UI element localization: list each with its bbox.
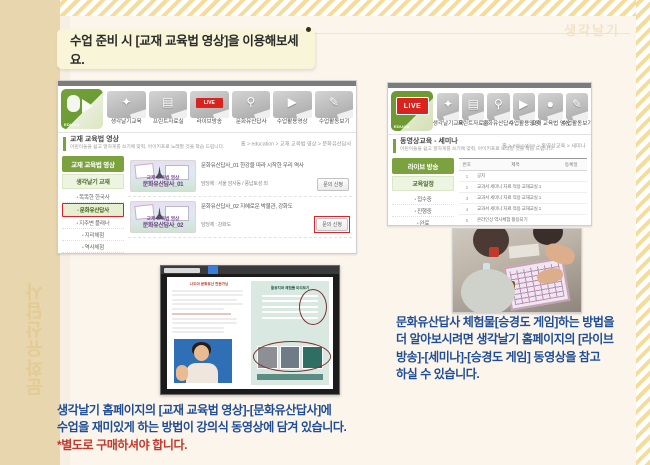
live-badge-icon: LIVE [396, 97, 429, 115]
sidebar-item-mini[interactable]: •미니수업 [62, 253, 124, 254]
row-no: 5 [459, 215, 476, 226]
bullet-icon: • [76, 195, 78, 201]
gnb-icon-list[interactable]: ✦ 생각날기교육 ▤ 프린트자료실 ⚲ 문화유산답사 ▶ 수업활용영상 ● [437, 91, 588, 126]
sidebar-item-label: 똑똑한 한국사 [79, 195, 110, 201]
bullet-icon: • [82, 245, 84, 251]
annotation-circle [299, 289, 327, 325]
video-icon: ▶ [513, 93, 535, 120]
right-stripe-pattern [636, 0, 650, 465]
slide-text-line [172, 290, 243, 292]
sidebar-subheading[interactable]: 생각날기 교재 [62, 174, 124, 189]
sidebar-subheading[interactable]: 교육일정 [392, 176, 454, 191]
slide-right-note [257, 374, 323, 380]
row-date [556, 171, 587, 182]
row-no: 2 [459, 182, 476, 193]
slide-text-line [172, 294, 243, 296]
list-item-title[interactable]: 문화유산답사_02 지혜로운 박물관, 강화도 [201, 202, 309, 210]
site-logo-live[interactable]: LIVE EDUCA [391, 91, 433, 131]
leaf-icon: ✦ [437, 93, 459, 120]
sidebar-item-label: 문화유산답사 [80, 208, 109, 214]
speech-bubble-pointer [306, 27, 311, 32]
bullet-icon: • [82, 233, 84, 239]
title-accent-bar [393, 139, 396, 153]
leaf-icon: ✦ [107, 91, 146, 118]
photo-red-box [489, 247, 499, 257]
logo-caption: EDUCA [394, 124, 410, 129]
annotation-circle [253, 341, 331, 372]
browser-tab[interactable] [164, 268, 200, 273]
browser-button[interactable] [208, 266, 218, 274]
tip-speech-bubble-text: 수업 준비 시 [교재 교육법 영상]을 이용해보세요. [70, 30, 302, 68]
bullet-icon: • [417, 221, 419, 227]
gnb-item-4[interactable]: ▶ 수업활용영상 [273, 91, 312, 124]
sidebar-item-ongoing[interactable]: •진행중 [392, 205, 454, 217]
caption-left-line1: 생각날기 홈페이지의 [교재 교육법 영상]-[문화유산답사]에 [57, 402, 407, 419]
presenter-hand [176, 365, 188, 381]
sidebar-item-label: 지리체험 [85, 233, 104, 239]
row-date [556, 215, 587, 226]
caption-right-line1: 문화유산답사 체험물[승경도 게임]하는 방법을 [396, 314, 636, 331]
site-global-nav[interactable]: LIVE EDUCA ✦ 생각날기교육 ▤ 프린트자료실 ⚲ 문화유산답사 ▶ [388, 88, 591, 131]
content-table: 번호 제목 등록일 1공지 2교과서 세미나 자료 적용 교재교실 1 3교과서… [458, 158, 587, 226]
side-vertical-label: 문화유산답사 [22, 282, 62, 432]
sidebar-item-label: 완료 [420, 221, 430, 227]
action-button-wrap-highlighted: 문의 신청 [314, 216, 350, 233]
table-row[interactable]: 1공지 [459, 171, 587, 182]
boardgame-photo [452, 228, 582, 313]
note-icon: ✎ [566, 93, 588, 120]
slide-text-line [172, 299, 237, 301]
gnb-item-0[interactable]: ✦ 생각날기교육 [107, 91, 146, 124]
row-title[interactable]: 교과서 세미나 자료 적용 교재교실 1 [475, 193, 556, 204]
slide-left-title: 나도야 문화유산 전문가님 [172, 282, 246, 287]
gnb-item-5[interactable]: ✎ 수업활동보기 [315, 91, 354, 124]
list-item-meta: 담당제 : 서울 암사동 / 풍납토성 외 [201, 180, 311, 187]
gnb-label-5: 수업활동보기 [304, 120, 357, 126]
gnb-item-2[interactable]: ⚲ 문화유산답사 [487, 93, 509, 126]
watermark-logo: 생각날기 [564, 20, 620, 39]
slide-root: 생각날기 문화유산답사 수업 준비 시 [교재 교육법 영상]을 이용해보세요.… [0, 0, 650, 465]
gnb-item-5[interactable]: ✎ 수업활동보기 [566, 93, 588, 126]
sidebar-item-accepting[interactable]: •접수중 [392, 193, 454, 205]
sidebar-heading-primary: 교재 교육법 영상 [62, 156, 124, 172]
left-side-nav[interactable]: 교재 교육법 영상 생각날기 교재 •똑똑한 한국사 •문화유산답사 •지주변 … [62, 156, 124, 254]
presenter-video-inset [173, 338, 233, 384]
heritage-icon: ⚲ [232, 91, 271, 118]
row-date [556, 226, 587, 227]
col-no: 번호 [459, 159, 476, 171]
gnb-icon-list[interactable]: ✦ 생각날기교육 ▤ 프린트자료실 LIVE 라이브방송 ⚲ 문화유산답사 ▶ [107, 89, 353, 124]
table-row[interactable]: 2교과서 세미나 자료 적용 교재교실 1 [459, 182, 587, 193]
caption-left-line3: *별도로 구매하셔야 합니다. [57, 437, 407, 454]
row-title[interactable]: 온라인상 역사체험 활용되기 [475, 215, 556, 226]
breadcrumb: 홈 > education > 교재 교육법 영상 > 문화유산답사 [241, 141, 351, 148]
row-no: 6 [459, 226, 476, 227]
sidebar-item-label: 접수중 [417, 197, 432, 203]
sidebar-heading-primary: 라이브 방송 [392, 158, 454, 174]
col-date: 등록일 [556, 159, 587, 171]
gnb-item-4[interactable]: ● 교재 교육법 영상 [538, 93, 563, 126]
gnb-item-1[interactable]: ▤ 프린트자료실 [149, 91, 188, 124]
sidebar-item-ddokddok[interactable]: •똑똑한 한국사 [62, 191, 124, 203]
presenter-body [186, 363, 218, 383]
bullet-icon: • [76, 221, 78, 227]
list-item-meta: 담당제 : 강화도 [201, 221, 309, 228]
mic-icon: ● [538, 93, 563, 120]
table-row[interactable]: 5온라인상 역사체험 활용되기 [459, 215, 587, 226]
slide-text-line [172, 303, 243, 305]
note-icon: ✎ [315, 91, 354, 118]
sidebar-item-heritage[interactable]: •문화유산답사 [63, 204, 123, 216]
page-title-bar: 동영상교육 - 세미나 어린이들을 쉽고 알차게를 쓰기에 맞춰, 아이키프로 … [388, 134, 591, 155]
sidebar-item-history[interactable]: •역사체험 [62, 241, 124, 253]
row-date [556, 204, 587, 215]
slide-text-line [172, 308, 224, 310]
table-row[interactable]: 4교과서 세미나 자료 적용 교재교실 1 [459, 204, 587, 215]
inquiry-button[interactable]: 문의 신청 [316, 218, 348, 231]
row-date [556, 193, 587, 204]
row-date [556, 182, 587, 193]
page-title-bar: 교재 교육법 영상 어린이들을 쉽고 알차게를 쓰기에 맞춰, 아이키프로 노래… [58, 132, 356, 153]
thumbnail-title: 문화유산답사_01 [131, 179, 195, 188]
table-row[interactable]: 6나만의 독서록 만들기 [459, 226, 587, 227]
caption-right-line3: 방송]-[세미나]-[승경도 게임] 동영상을 참고 [396, 349, 636, 366]
sidebar-item-label: 지주변 플래너 [79, 221, 110, 227]
row-title[interactable]: 공지 [475, 171, 556, 182]
sidebar-item-planner[interactable]: •지주변 플래너 [62, 217, 124, 229]
thumbnail[interactable]: 교재 교육법 영상 문화유산답사_02 [130, 201, 196, 233]
microphone-icon [67, 95, 80, 112]
gnb-item-1[interactable]: ▤ 프린트자료실 [462, 93, 484, 126]
heritage-icon: ⚲ [487, 93, 509, 120]
side-vertical-label-text: 문화유산답사 [22, 282, 48, 396]
caption-right: 문화유산답사 체험물[승경도 게임]하는 방법을 더 알아보시려면 생각날기 홈… [396, 314, 636, 384]
sidebar-highlight-box: •문화유산답사 [62, 203, 124, 217]
action-button-wrap: 문의 신청 [316, 177, 350, 192]
live-badge: LIVE [196, 98, 223, 108]
title-accent-bar [63, 137, 66, 151]
slide-underline [172, 313, 231, 315]
bullet-icon: • [414, 209, 416, 215]
gnb-item-3[interactable]: ⚲ 문화유산답사 [232, 91, 271, 124]
left-side-nav[interactable]: 라이브 방송 교육일정 •접수중 •진행중 •완료 동영상교육 •교재활용강의 … [392, 158, 454, 226]
video-browser-bar [161, 266, 339, 274]
row-title[interactable]: 교과서 세미나 자료 적용 교재교실 1 [475, 204, 556, 215]
live-icon: LIVE [190, 91, 229, 118]
page-title: 동영상교육 - 세미나 [400, 138, 510, 146]
presenter-head [194, 345, 209, 361]
page-title: 교재 교육법 영상 [70, 136, 180, 144]
list-item-title[interactable]: 문화유산답사_01 한강을 따라 시작한 우리 역사 [201, 161, 311, 169]
table-row[interactable]: 3교과서 세미나 자료 적용 교재교실 1 [459, 193, 587, 204]
bullet-icon: • [77, 208, 79, 214]
print-icon: ▤ [149, 91, 188, 118]
caption-right-line2: 더 알아보시려면 생각날기 홈페이지의 [라이브 [396, 331, 636, 348]
video-icon: ▶ [273, 91, 312, 118]
caption-left: 생각날기 홈페이지의 [교재 교육법 영상]-[문화유산답사]에 수업을 재미있… [57, 402, 407, 454]
list-item[interactable]: 교재 교육법 영상 문화유산답사_02 문화유산답사_02 지혜로운 박물관, … [128, 197, 352, 238]
thumbnail-title: 문화유산답사_02 [131, 220, 195, 229]
sidebar-item-label: 역사체험 [85, 245, 104, 251]
slide-right-column: 활동지와 체험물 미리보기 [251, 281, 329, 385]
slide-text-line [172, 322, 237, 324]
gnb-label-5: 수업활동보기 [560, 122, 592, 128]
video-slide-stage: 나도야 문화유산 전문가님 활동지와 체험물 미리보기 [167, 277, 333, 389]
slide-text-line [172, 327, 224, 329]
site-global-nav[interactable]: EDUCA ✦ 생각날기교육 ▤ 프린트자료실 LIVE 라이브방송 ⚲ 문화유… [58, 86, 356, 129]
caption-right-line4: 하실 수 있습니다. [396, 366, 636, 383]
content-list: 교재 교육법 영상 문화유산답사_01 문화유산답사_01 한강을 따라 시작한… [128, 156, 352, 254]
right-website-screenshot[interactable]: LIVE EDUCA ✦ 생각날기교육 ▤ 프린트자료실 ⚲ 문화유산답사 ▶ [387, 82, 592, 226]
seminar-table: 번호 제목 등록일 1공지 2교과서 세미나 자료 적용 교재교실 1 3교과서… [458, 158, 587, 226]
print-icon: ▤ [462, 93, 484, 120]
col-title: 제목 [475, 159, 556, 171]
photo-person-front [461, 269, 515, 313]
logo-caption: EDUCA [64, 122, 80, 127]
play-icon [82, 99, 93, 113]
sidebar-item-label: 진행중 [417, 209, 432, 215]
sidebar-item-geo[interactable]: •지리체험 [62, 229, 124, 241]
row-title[interactable]: 교과서 세미나 자료 적용 교재교실 1 [475, 182, 556, 193]
row-no: 3 [459, 193, 476, 204]
row-no: 4 [459, 204, 476, 215]
top-stripe-pattern [60, 0, 650, 16]
slide-text-line [172, 318, 237, 320]
tip-speech-bubble: 수업 준비 시 [교재 교육법 영상]을 이용해보세요. [57, 29, 315, 69]
gnb-item-2[interactable]: LIVE 라이브방송 [190, 91, 229, 124]
row-no: 1 [459, 171, 476, 182]
slide-text-line [172, 331, 224, 333]
caption-left-line2: 수업을 재미있게 하는 방법이 강의식 동영상에 담겨 있습니다. [57, 419, 407, 436]
page-subtitle: 어린이들을 쉽고 알차게를 쓰기에 맞춰, 아이키프로 노래할 것을 학습 드립… [70, 145, 224, 150]
bullet-icon: • [414, 197, 416, 203]
inquiry-button[interactable]: 문의 신청 [317, 178, 349, 191]
gnb-item-0[interactable]: ✦ 생각날기교육 [437, 93, 459, 126]
list-item[interactable]: 교재 교육법 영상 문화유산답사_01 문화유산답사_01 한강을 따라 시작한… [128, 156, 352, 197]
breadcrumb: 홈 > education > 동영상교육 > 세미나 [502, 143, 586, 150]
sidebar-item-done[interactable]: •완료 [392, 217, 454, 226]
table-header-row: 번호 제목 등록일 [459, 159, 587, 171]
row-title[interactable]: 나만의 독서록 만들기 [475, 226, 556, 227]
lecture-video-screenshot[interactable]: 나도야 문화유산 전문가님 활동지와 체험물 미리보기 [160, 265, 340, 395]
left-website-screenshot[interactable]: EDUCA ✦ 생각날기교육 ▤ 프린트자료실 LIVE 라이브방송 ⚲ 문화유… [57, 80, 357, 254]
thumbnail[interactable]: 교재 교육법 영상 문화유산답사_01 [130, 160, 196, 192]
